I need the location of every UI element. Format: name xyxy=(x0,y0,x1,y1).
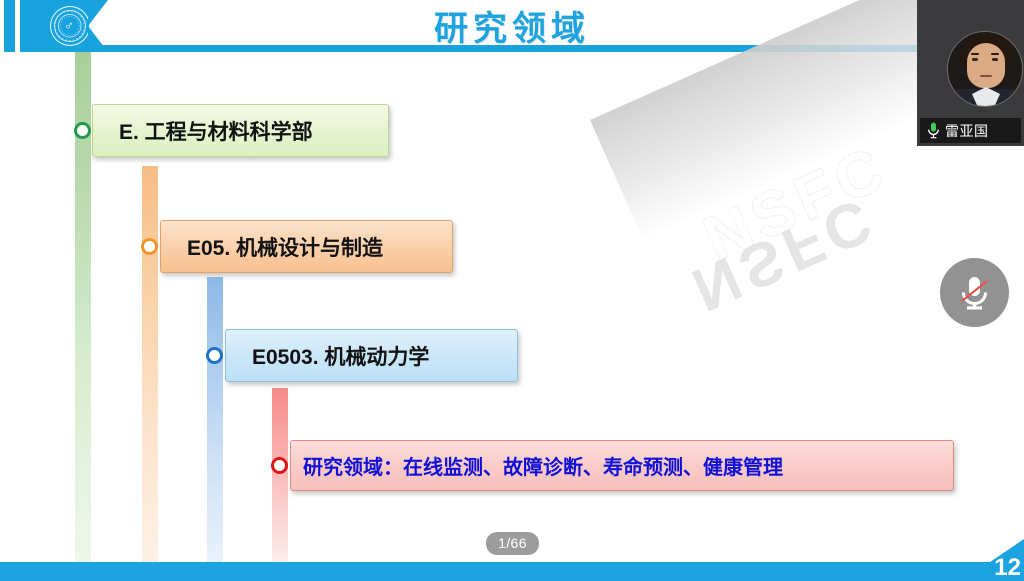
avatar xyxy=(947,31,1023,107)
node-marker-level-4 xyxy=(271,457,288,474)
node-box-level-2[interactable]: E05. 机械设计与制造 xyxy=(160,220,453,273)
avatar-eye-right xyxy=(992,58,998,61)
avatar-brow-left xyxy=(971,53,979,55)
stem-bar-orange xyxy=(142,166,158,562)
participant-name: 雷亚国 xyxy=(945,121,989,141)
avatar-mouth xyxy=(980,75,992,77)
node-box-level-1[interactable]: E. 工程与材料科学部 xyxy=(92,104,389,157)
stem-bar-red xyxy=(272,388,288,562)
nsfc-watermark-reflection: NSFC xyxy=(682,182,887,325)
slide-counter-badge: 1/66 xyxy=(486,532,539,555)
avatar-face xyxy=(967,43,1005,88)
avatar-eye-left xyxy=(972,58,978,61)
video-participant-panel[interactable]: 雷亚国 xyxy=(917,0,1024,146)
node-label-level-1: E. 工程与材料科学部 xyxy=(119,116,313,146)
microphone-on-icon xyxy=(927,122,940,139)
node-label-level-3: E0503. 机械动力学 xyxy=(252,341,429,371)
node-marker-level-2 xyxy=(141,238,158,255)
participant-name-bar: 雷亚国 xyxy=(920,118,1021,143)
node-marker-level-1 xyxy=(74,122,91,139)
nsfc-watermark-text: NSFC xyxy=(694,132,899,275)
microphone-muted-icon xyxy=(958,274,991,312)
node-label-level-4: 研究领域：在线监测、故障诊断、寿命预测、健康管理 xyxy=(303,451,783,480)
presentation-slide: ♂ 研究领域 NSFC NSFC E. 工程与材料科学部 E05. 机械设计与制… xyxy=(0,0,1024,581)
page-title: 研究领域 xyxy=(0,1,1024,50)
node-marker-level-3 xyxy=(206,347,223,364)
stem-bar-blue xyxy=(207,277,223,562)
footer-bar xyxy=(0,562,1024,581)
avatar-brow-right xyxy=(991,53,999,55)
page-number: 12 xyxy=(994,554,1021,581)
node-box-level-4[interactable]: 研究领域：在线监测、故障诊断、寿命预测、健康管理 xyxy=(290,440,954,491)
node-box-level-3[interactable]: E0503. 机械动力学 xyxy=(225,329,518,382)
node-label-level-2: E05. 机械设计与制造 xyxy=(187,232,383,262)
mute-microphone-button[interactable] xyxy=(940,258,1009,327)
